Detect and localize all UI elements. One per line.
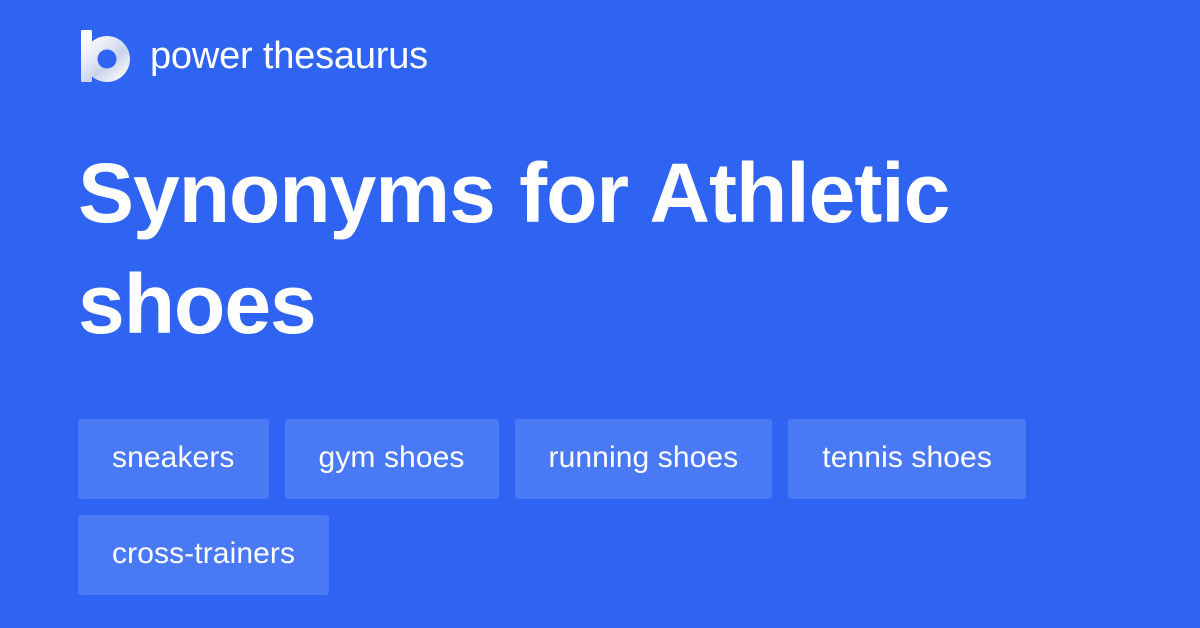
synonym-tag[interactable]: running shoes bbox=[515, 419, 773, 499]
page-title: Synonyms for Athletic shoes bbox=[78, 138, 1088, 360]
synonym-tag[interactable]: tennis shoes bbox=[788, 419, 1026, 499]
brand-name: power thesaurus bbox=[150, 37, 428, 75]
synonym-tag-list: sneakers gym shoes running shoes tennis … bbox=[78, 419, 1128, 595]
power-thesaurus-b-logo-icon bbox=[78, 29, 132, 83]
synonym-tag[interactable]: sneakers bbox=[78, 419, 269, 499]
synonym-tag[interactable]: cross-trainers bbox=[78, 515, 329, 595]
share-card: power thesaurus Synonyms for Athletic sh… bbox=[0, 0, 1200, 628]
brand-lockup[interactable]: power thesaurus bbox=[78, 28, 428, 84]
synonym-tag[interactable]: gym shoes bbox=[285, 419, 499, 499]
